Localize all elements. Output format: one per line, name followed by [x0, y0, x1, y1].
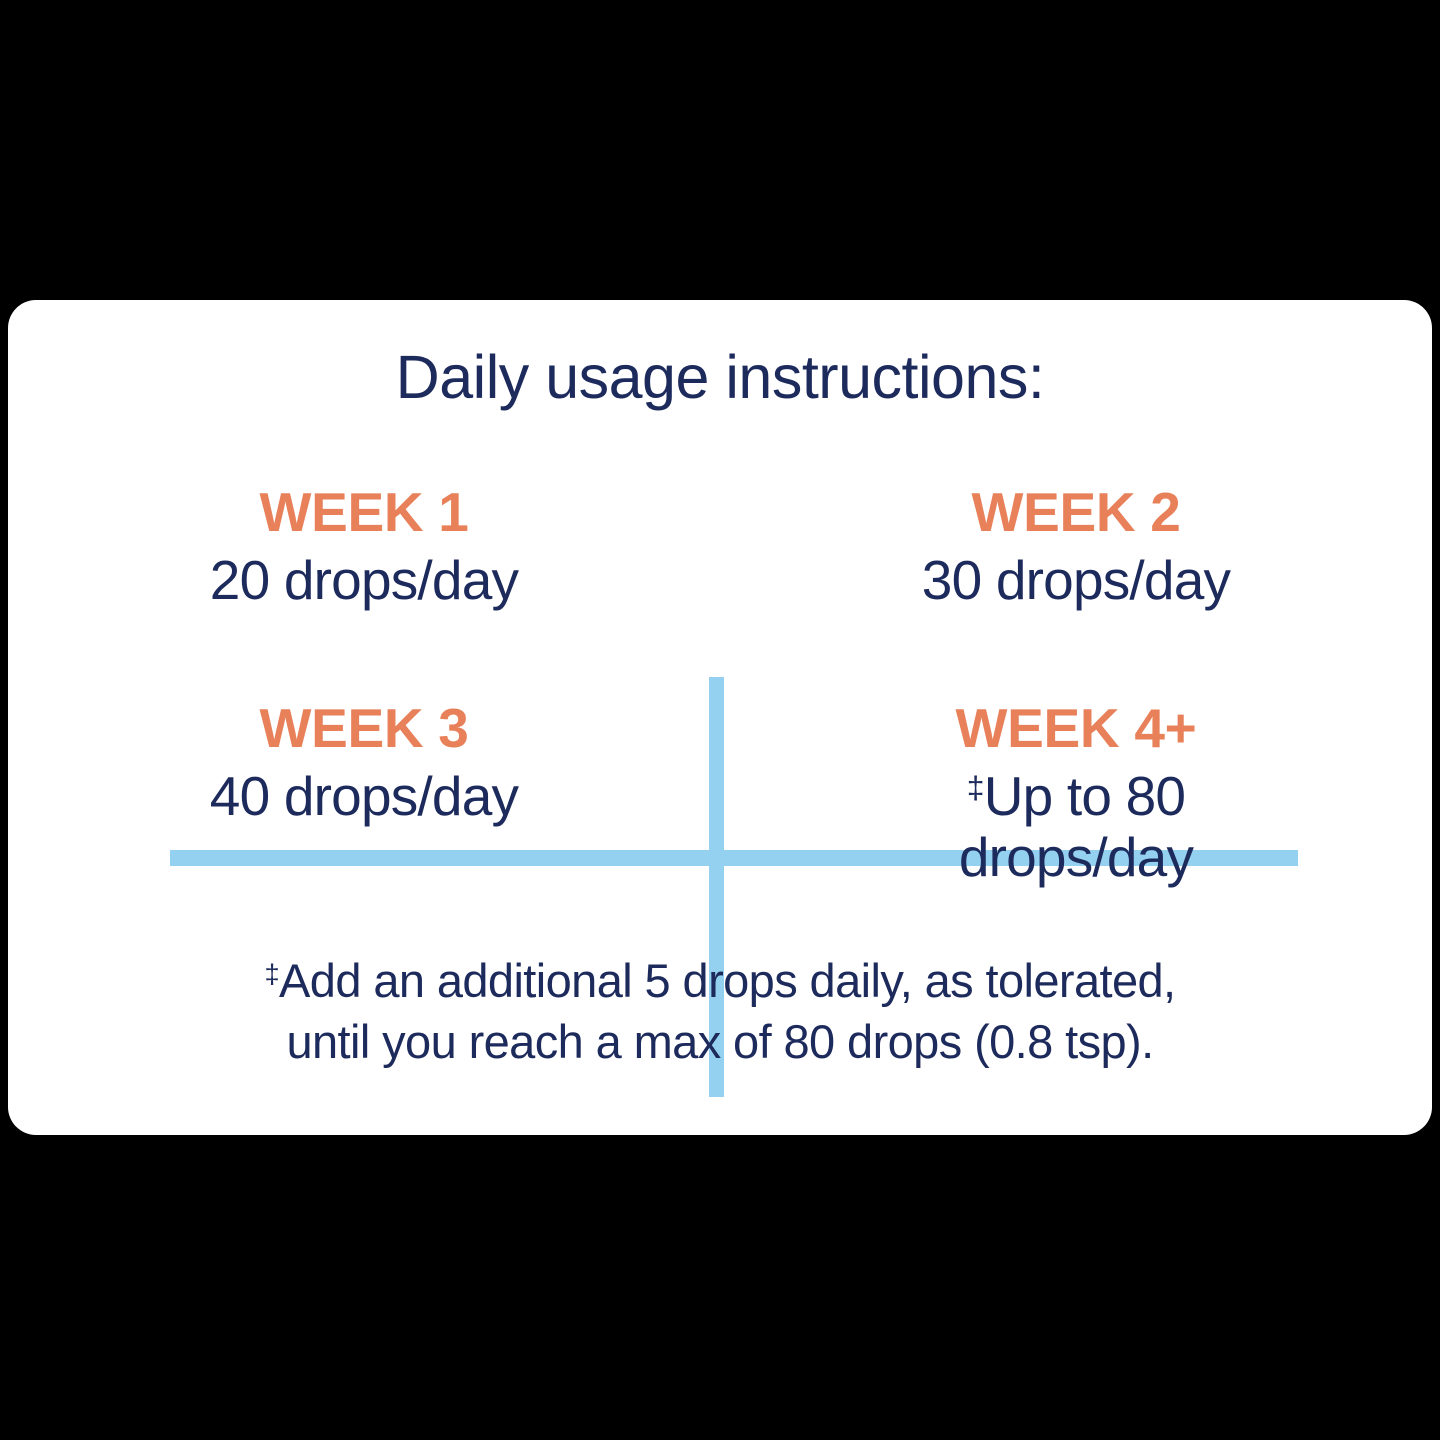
schedule-cell-week-4-plus: WEEK 4+ ‡Up to 80 drops/day	[766, 698, 1386, 889]
daily-usage-instructions-card: Daily usage instructions: WEEK 1 20 drop…	[8, 300, 1432, 1135]
week-1-label: WEEK 1	[54, 482, 674, 544]
week-4-plus-dose: ‡Up to 80 drops/day	[866, 766, 1286, 889]
schedule-cell-week-1: WEEK 1 20 drops/day	[54, 482, 674, 611]
week-schedule-grid: WEEK 1 20 drops/day WEEK 2 30 drops/day …	[8, 482, 1432, 922]
week-1-dose: 20 drops/day	[54, 550, 674, 612]
week-2-dose: 30 drops/day	[766, 550, 1386, 612]
week-3-label: WEEK 3	[54, 698, 674, 760]
week-4-plus-dose-text: Up to 80 drops/day	[959, 765, 1193, 889]
week-4-plus-label: WEEK 4+	[766, 698, 1386, 760]
footnote-line-1: Add an additional 5 drops daily, as tole…	[279, 954, 1175, 1007]
schedule-cell-week-3: WEEK 3 40 drops/day	[54, 698, 674, 827]
double-dagger-marker-icon: ‡	[967, 769, 984, 805]
footnote: ‡Add an additional 5 drops daily, as tol…	[38, 950, 1402, 1072]
card-title: Daily usage instructions:	[8, 344, 1432, 411]
week-2-label: WEEK 2	[766, 482, 1386, 544]
footnote-double-dagger-icon: ‡	[264, 958, 279, 989]
week-3-dose: 40 drops/day	[54, 766, 674, 828]
footnote-line-2: until you reach a max of 80 drops (0.8 t…	[286, 1015, 1153, 1068]
schedule-cell-week-2: WEEK 2 30 drops/day	[766, 482, 1386, 611]
screenshot-root: Daily usage instructions: WEEK 1 20 drop…	[0, 0, 1440, 1440]
